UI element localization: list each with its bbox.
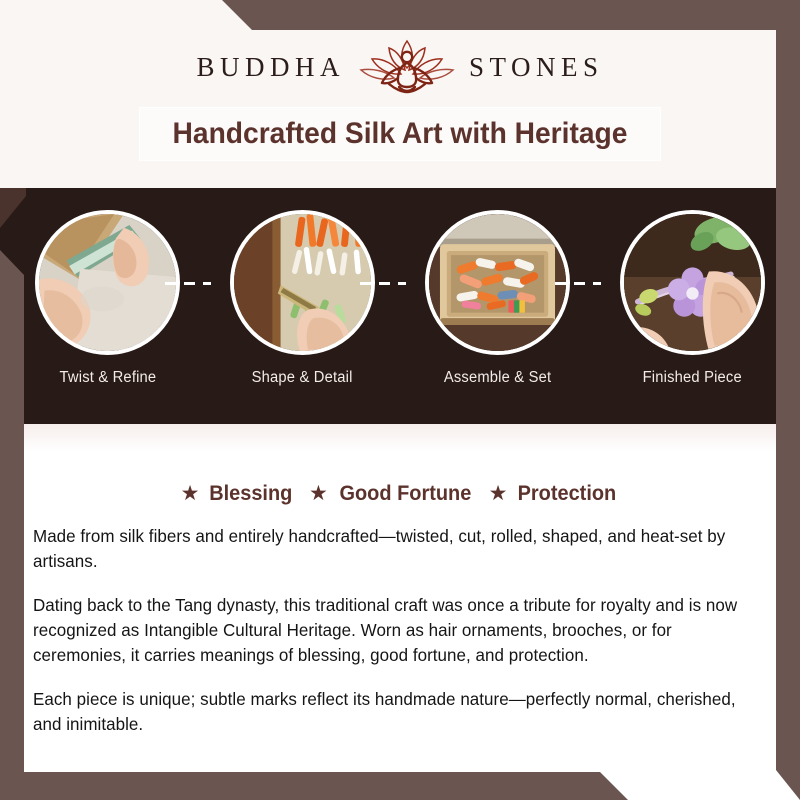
content-top-fade: [0, 424, 800, 452]
process-step: Assemble & Set: [400, 188, 595, 387]
hands-twisting-silk-photo: [35, 210, 180, 355]
step-label: Twist & Refine: [59, 369, 156, 387]
product-infographic: BUDDHA: [0, 0, 800, 800]
description-paragraph: Dating back to the Tang dynasty, this tr…: [33, 593, 751, 668]
step-label: Finished Piece: [643, 369, 742, 387]
lotus-meditation-icon: [359, 37, 455, 97]
process-steps-band: Twist & Refine: [0, 188, 800, 424]
star-icon: ★: [489, 483, 508, 504]
feature-item: ★ Blessing: [181, 482, 295, 506]
title-banner: Handcrafted Silk Art with Heritage: [140, 108, 660, 160]
feature-label: Blessing: [210, 482, 293, 506]
feature-label: Protection: [518, 482, 617, 506]
description-paragraphs: Made from silk fibers and entirely handc…: [33, 524, 773, 737]
feature-label: Good Fortune: [339, 482, 471, 506]
finished-purple-flower-photo: [620, 210, 765, 355]
step-label: Shape & Detail: [252, 369, 353, 387]
star-icon: ★: [181, 483, 200, 504]
brand-word-left: BUDDHA: [196, 52, 345, 83]
step-label: Assemble & Set: [444, 369, 551, 387]
brand-word-right: STONES: [469, 52, 604, 83]
feature-item: ★ Good Fortune: [309, 482, 475, 506]
description-section: ★ Blessing ★ Good Fortune ★ Protection M…: [0, 424, 800, 800]
hands-shaping-detail-photo: [230, 210, 375, 355]
description-paragraph: Each piece is unique; subtle marks refle…: [33, 687, 751, 737]
description-paragraph: Made from silk fibers and entirely handc…: [33, 524, 751, 574]
process-step: Finished Piece: [595, 188, 790, 387]
star-icon: ★: [309, 483, 328, 504]
feature-item: ★ Protection: [489, 482, 620, 506]
page-title: Handcrafted Silk Art with Heritage: [173, 117, 628, 151]
tray-of-silk-parts-photo: [425, 210, 570, 355]
brand-logo: BUDDHA: [0, 36, 800, 98]
process-step: Twist & Refine: [10, 188, 205, 387]
process-step: Shape & Detail: [205, 188, 400, 387]
feature-highlights: ★ Blessing ★ Good Fortune ★ Protection: [0, 482, 800, 506]
frame-right-bar: [776, 0, 800, 800]
